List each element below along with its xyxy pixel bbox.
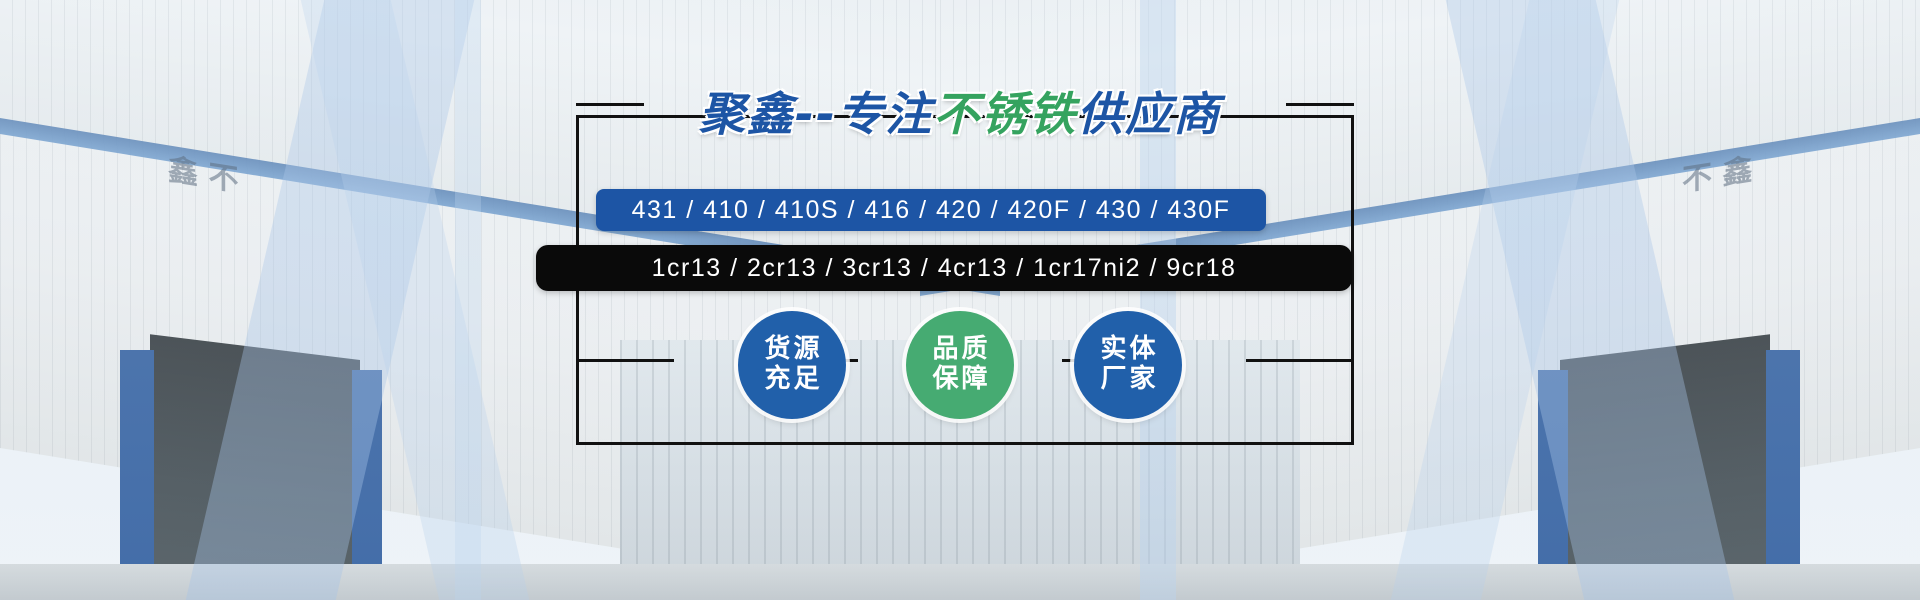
badge-factory-line2: 厂家 [1097,365,1158,395]
badge-quality-line1: 品质 [929,335,990,365]
badge-quality[interactable]: 品质 保障 [906,311,1014,419]
headline-highlight: 不锈铁 [933,87,1077,141]
badge-supply-line2: 充足 [761,365,822,395]
badge-factory-line1: 实体 [1097,335,1158,365]
headline-supplier: 供应商 [1077,87,1221,141]
headline-focus: 专注 [837,87,933,141]
headline-dash: -- [795,87,837,141]
badge-quality-line2: 保障 [929,365,990,395]
promotional-banner: 鑫 不 不 鑫 聚鑫--专注不锈铁供应商 431 / 410 / 410S / … [0,0,1920,600]
badge-supply-line1: 货源 [761,335,822,365]
headline-brand: 聚鑫 [699,87,795,141]
headline: 聚鑫--专注不锈铁供应商 [0,78,1920,144]
grades-secondary-bar: 1cr13 / 2cr13 / 3cr13 / 4cr13 / 1cr17ni2… [536,245,1352,291]
grades-primary-bar: 431 / 410 / 410S / 416 / 420 / 420F / 43… [596,189,1266,231]
banner-content: 聚鑫--专注不锈铁供应商 431 / 410 / 410S / 416 / 42… [0,0,1920,600]
badge-supply[interactable]: 货源 充足 [738,311,846,419]
feature-badges: 货源 充足 品质 保障 实体 厂家 [0,305,1920,425]
badge-factory[interactable]: 实体 厂家 [1074,311,1182,419]
